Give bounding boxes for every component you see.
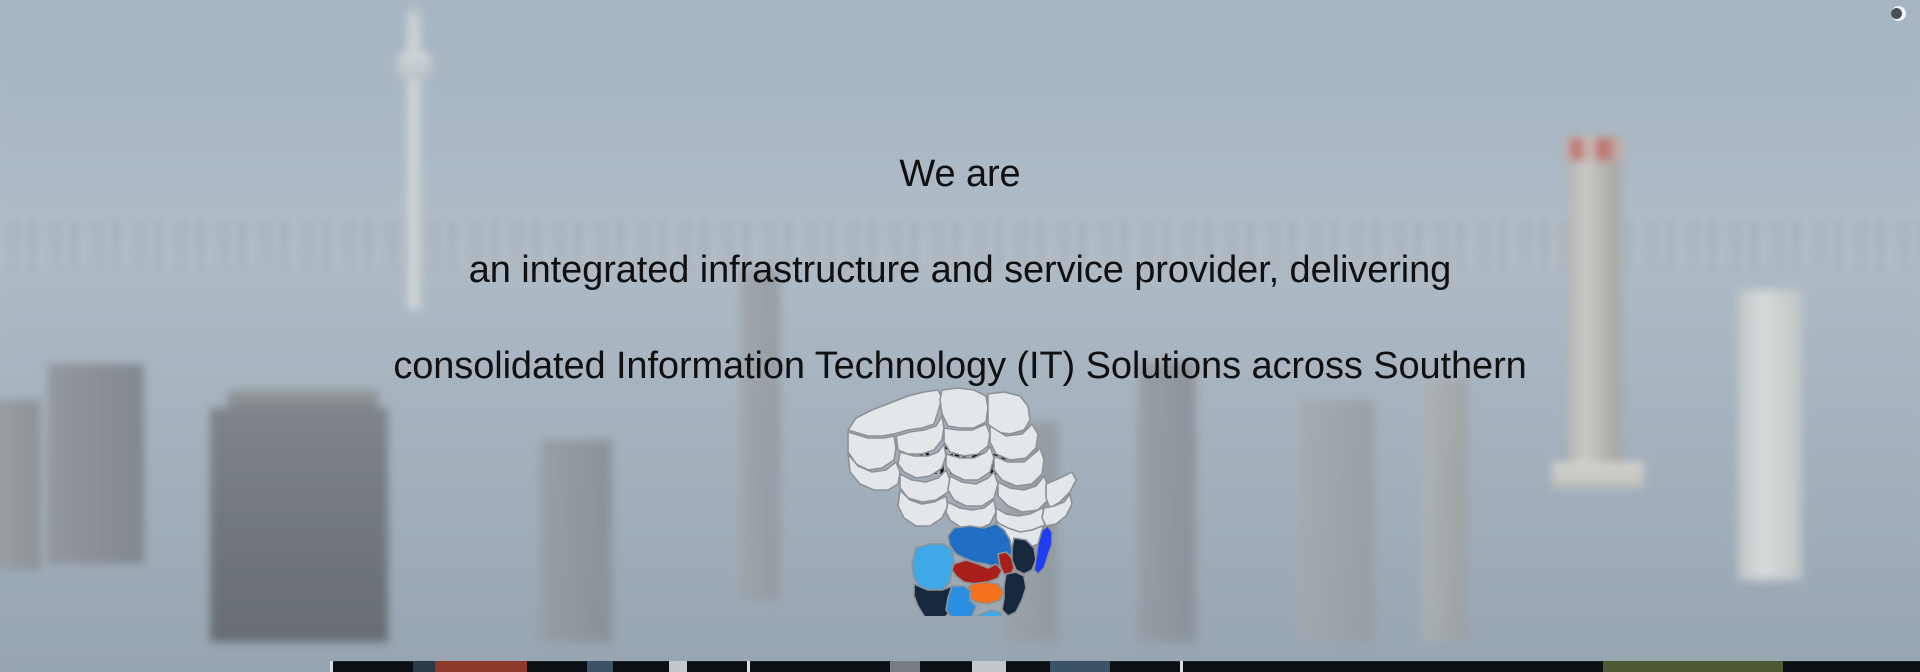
strip-panel-7[interactable] [1006,661,1050,672]
map-region-angola [912,544,954,592]
strip-panel-4[interactable] [687,661,747,672]
strip-panel-10[interactable] [1783,661,1920,672]
strip-thumbnail-8[interactable] [1603,661,1783,672]
strip-panel-9[interactable] [1183,661,1603,672]
strip-thumbnail-6[interactable] [972,661,1006,672]
strip-thumbnail-1[interactable] [413,661,435,672]
strip-panel-2[interactable] [527,661,587,672]
hillbrow-tower-mast [412,0,417,20]
map-region-unhighlighted [848,388,1076,550]
strip-panel-5[interactable] [750,661,890,672]
hillbrow-tower-pod [398,52,431,78]
strip-thumbnail-4[interactable] [669,661,687,672]
strip-panel-8[interactable] [1110,661,1180,672]
pointer-dot-core [1891,8,1902,19]
strip-thumbnail-5[interactable] [890,661,920,672]
strip-panel-3[interactable] [613,661,669,672]
map-region-zimbabwe [968,582,1004,604]
pointer-dot-icon [1891,6,1906,21]
map-region-mozambique [1002,572,1026,616]
strip-panel-1[interactable] [333,661,413,672]
headline-line-2: an integrated infrastructure and service… [240,246,1680,294]
strip-thumbnail-3[interactable] [587,661,613,672]
strip-thumbnail-7[interactable] [1050,661,1110,672]
bottom-window-strip[interactable] [0,661,1920,672]
strip-thumbnail-2[interactable] [435,661,527,672]
strip-panel-6[interactable] [920,661,972,672]
headline-line-1: We are [240,150,1680,198]
strip-gap-left [0,661,330,672]
africa-map-graphic [838,378,1078,616]
presentation-slide: We are an integrated infrastructure and … [0,0,1920,672]
